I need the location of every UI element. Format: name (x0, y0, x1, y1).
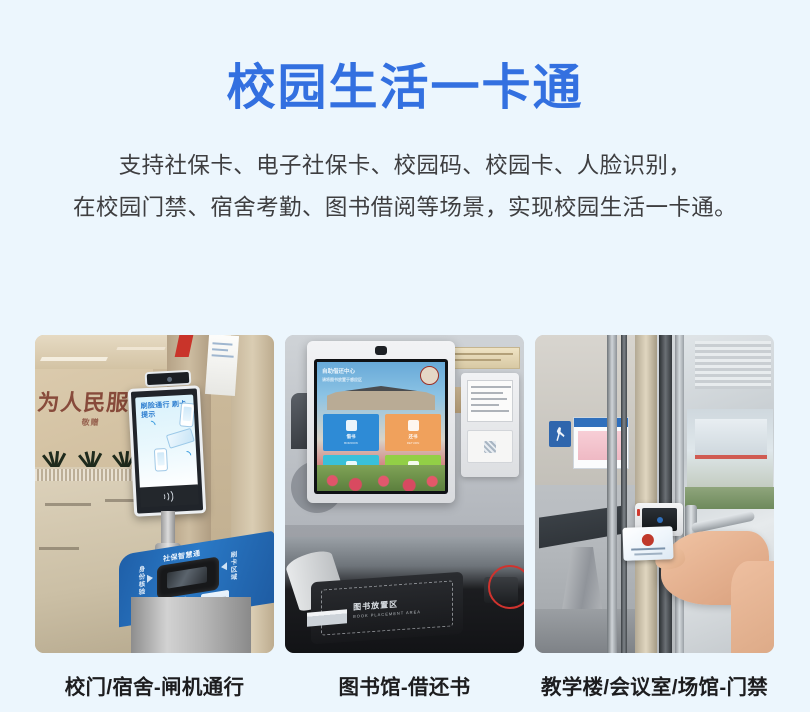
page-title: 校园生活一卡通 (0, 58, 810, 119)
phone-graphic (179, 402, 195, 427)
door-mullion-4 (659, 335, 672, 653)
face-camera-module (145, 370, 192, 387)
instruction-sheet (467, 380, 513, 422)
nfc-wave-icon-2 (180, 449, 193, 462)
kiosk-camera-icon (375, 346, 387, 355)
scenario-card-library[interactable]: 自助借还中心 请将图书放置于感应区 借书 BORROW (285, 335, 524, 700)
potted-plants (39, 433, 144, 471)
kiosk-tile-return-label: 还书 (409, 434, 418, 440)
ceiling-light-strip (40, 357, 108, 361)
social-security-card (622, 526, 673, 561)
campus-gate-illustration (327, 386, 435, 410)
forearm (731, 561, 774, 653)
photo-door-access (535, 335, 774, 653)
door-mullion-2 (621, 335, 627, 653)
scenario-card-row: 为人民服务 敬赠 (35, 335, 775, 700)
kiosk-tile-borrow-sub: BORROW (344, 441, 358, 445)
person-icon (555, 427, 565, 441)
kiosk-tile-borrow-label: 借书 (347, 434, 356, 440)
kiosk-counter: 图书放置区 BOOK PLACEMENT AREA (285, 537, 524, 653)
terminal-screen: 刷脸通行 刷卡提示 (135, 395, 198, 490)
photo-gate-turnstile: 为人民服务 敬赠 (35, 335, 274, 653)
national-emblem-icon (642, 534, 654, 546)
poster-header-bar (574, 418, 628, 427)
poster-body (578, 431, 624, 460)
window-blinds (695, 341, 771, 389)
directional-sign (549, 421, 571, 447)
kiosk-title-text: 自助借还中心 (322, 369, 355, 375)
outdoor-building (695, 419, 767, 459)
scenario-card-gate[interactable]: 为人民服务 敬赠 (35, 335, 274, 700)
phone-graphic-2 (154, 448, 168, 472)
terminal-nfc-zone[interactable] (140, 484, 199, 507)
photo-library-kiosk: 自助借还中心 请将图书放置于感应区 借书 BORROW (285, 335, 524, 653)
tray-label-text: 图书放置区 (353, 600, 398, 612)
kiosk-tile-return-sub: RETURN (407, 441, 420, 445)
wall-shelf (448, 347, 520, 369)
kiosk-screen-bezel: 自助借还中心 请将图书放置于感应区 借书 BORROW (314, 359, 448, 494)
kiosk-subtitle-text: 请将图书放置于感应区 (322, 377, 362, 383)
turnstile-body (131, 597, 251, 653)
card-graphic (166, 428, 195, 449)
door-mullion-1 (607, 335, 617, 653)
school-seal-icon (420, 366, 439, 385)
flowerbed-illustration (317, 465, 445, 491)
sensor-dot-icon (657, 517, 663, 523)
kiosk-title: 自助借还中心 请将图书放置于感应区 (322, 367, 362, 383)
return-icon (408, 420, 419, 431)
card-caption-library: 图书馆-借还书 (285, 670, 524, 700)
borrow-icon (346, 420, 357, 431)
turnstile-right-label: 刷卡区域 (227, 551, 237, 583)
kiosk-screen[interactable]: 自助借还中心 请将图书放置于感应区 借书 BORROW (317, 362, 445, 491)
card-caption-gate: 校门/宿舍-闸机通行 (35, 670, 274, 700)
page-subtitle: 支持社保卡、电子社保卡、校园码、校园卡、人脸识别， 在校园门禁、宿舍考勤、图书借… (0, 145, 810, 228)
qr-code-icon (484, 441, 496, 453)
page-root: 校园生活一卡通 支持社保卡、电子社保卡、校园码、校园卡、人脸识别， 在校园门禁、… (0, 58, 810, 712)
turnstile-left-label: 身份核验 (135, 565, 145, 597)
card-text-line-1 (631, 547, 665, 550)
status-led-icon (637, 509, 640, 516)
card-caption-access: 教学楼/会议室/场馆-门禁 (535, 670, 774, 700)
panel-card-reader[interactable] (467, 430, 513, 463)
subtitle-line-2: 在校园门禁、宿舍考勤、图书借阅等场景，实现校园生活一卡通。 (0, 187, 810, 229)
subtitle-line-1: 支持社保卡、电子社保卡、校园码、校园卡、人脸识别， (0, 145, 810, 187)
ceiling-light-strip-2 (116, 347, 165, 350)
kiosk-tile-borrow[interactable]: 借书 BORROW (323, 414, 379, 451)
card-text-line-2 (634, 553, 662, 556)
face-recognition-terminal[interactable]: 刷脸通行 刷卡提示 (128, 385, 207, 517)
scenario-card-access[interactable]: 教学楼/会议室/场馆-门禁 (535, 335, 774, 700)
chevron-right-icon (147, 574, 153, 583)
door-mullion-5 (675, 335, 684, 653)
kiosk-tile-return[interactable]: 还书 RETURN (385, 414, 441, 451)
side-instruction-panel (461, 373, 519, 477)
outdoor-hedge (685, 487, 774, 509)
door-mullion-3 (635, 335, 657, 653)
wall-notice-paper (205, 335, 239, 396)
red-highlight-circle (488, 565, 524, 609)
self-service-kiosk[interactable]: 自助借还中心 请将图书放置于感应区 借书 BORROW (307, 341, 455, 503)
book-placement-tray[interactable]: 图书放置区 BOOK PLACEMENT AREA (311, 572, 463, 645)
nfc-icon (158, 489, 181, 503)
